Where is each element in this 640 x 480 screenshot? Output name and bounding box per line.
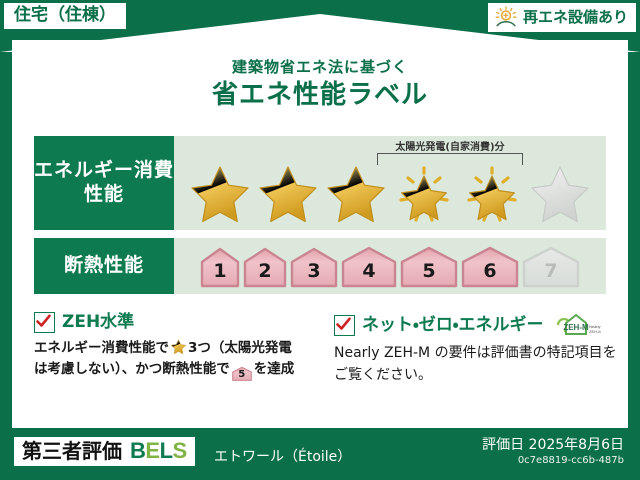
building-type-label: 住宅（住棟）	[14, 5, 116, 25]
insulation-level-badge: 4	[341, 244, 397, 288]
inline-star-icon	[170, 338, 187, 355]
label-id: 0c7e8819-cc6b-487b	[482, 454, 624, 468]
footer: 第三者評価 BELS エトワール（Étoile） 評価日 2025年8月6日 0…	[0, 428, 640, 480]
bels-letter-s: S	[173, 438, 187, 463]
star-empty	[527, 160, 593, 226]
star-solar	[459, 160, 525, 226]
inline-insulation-badge: 5	[232, 365, 252, 382]
title-subtitle: 建築物省エネ法に基づく	[12, 58, 628, 76]
zeh-body-part4: を達成	[254, 361, 295, 377]
zeh-body-part3: は考慮しない）、かつ断熱性能で	[34, 361, 230, 377]
insulation-level-scale: 1 2 3	[174, 238, 606, 294]
insulation-performance-label: 断熱性能	[34, 238, 174, 294]
inline-insulation-number: 5	[232, 365, 252, 384]
insulation-level-badge: 1	[200, 244, 240, 288]
insulation-level-badge: 5	[400, 244, 458, 288]
nzeb-criterion-title: ネット・ゼロ・エネルギー	[362, 317, 544, 334]
star-filled	[323, 160, 389, 226]
zeh-body-part1: エネルギー消費性能で	[34, 340, 169, 356]
third-party-eval-label: 第三者評価	[22, 441, 122, 461]
insulation-level-number: 2	[258, 260, 271, 288]
nzeb-criterion: ネット・ゼロ・エネルギー ZEH-M Nearly ZEH-M Nearly Z…	[334, 312, 620, 386]
star-solar	[391, 160, 457, 226]
insulation-level-number: 5	[422, 260, 435, 288]
insulation-level-badge: 3	[290, 244, 338, 288]
nzeb-criterion-body: Nearly ZEH-M の要件は評価書の特記項目をご覧ください。	[334, 343, 620, 386]
zeh-m-logo-icon: ZEH-M Nearly ZEH-M	[555, 312, 601, 338]
title-main: 省エネ性能ラベル	[12, 79, 628, 112]
checkbox-checked-icon	[334, 315, 355, 336]
sun-renewable-icon	[494, 6, 518, 28]
insulation-level-number: 6	[483, 260, 496, 288]
bels-logo: BELS	[130, 440, 187, 462]
insulation-level-number: 4	[362, 260, 375, 288]
insulation-levels-area: 1 2 3	[174, 238, 606, 294]
bels-letter-l: L	[160, 438, 173, 463]
bels-badge: 第三者評価 BELS	[14, 437, 195, 466]
criteria-section: ZEH水準 エネルギー消費性能で3つ（太陽光発電 は考慮しない）、かつ断熱性能で…	[34, 312, 620, 386]
zeh-criterion-title: ZEH水準	[62, 314, 134, 331]
title-block: 建築物省エネ法に基づく 省エネ性能ラベル	[12, 40, 628, 112]
insulation-level-badge: 2	[243, 244, 287, 288]
rating-rows: エネルギー消費性能 太陽光発電(自家消費)分	[34, 136, 606, 302]
renewable-badge: 再エネ設備あり	[488, 3, 636, 32]
insulation-level-badge: 6	[461, 244, 519, 288]
footer-meta: 評価日 2025年8月6日 0c7e8819-cc6b-487b	[482, 436, 624, 468]
building-type-badge: 住宅（住棟）	[4, 3, 126, 29]
insulation-performance-row: 断熱性能	[34, 238, 606, 294]
insulation-level-number: 3	[307, 260, 320, 288]
property-name: エトワール（Étoile）	[214, 446, 351, 466]
insulation-level-badge-inactive: 7	[522, 244, 580, 288]
svg-text:ZEH-M: ZEH-M	[589, 329, 601, 334]
solar-bracket-label: 太陽光発電(自家消費)分	[371, 138, 529, 153]
zeh-criterion-body: エネルギー消費性能で3つ（太陽光発電 は考慮しない）、かつ断熱性能で5を達成	[34, 338, 320, 382]
zeh-criterion-header: ZEH水準	[34, 312, 320, 333]
energy-performance-label: エネルギー消費性能	[34, 136, 174, 230]
star-filled	[187, 160, 253, 226]
bels-letter-e: E	[145, 438, 159, 463]
main-panel: 建築物省エネ法に基づく 省エネ性能ラベル エネルギー消費性能 太陽光発電(自家消…	[12, 40, 628, 428]
nzeb-criterion-header: ネット・ゼロ・エネルギー ZEH-M Nearly ZEH-M	[334, 312, 620, 338]
energy-label-root: 住宅（住棟） 再エネ設備あり 建築物省エネ	[0, 0, 640, 480]
insulation-level-number: 7	[544, 260, 557, 288]
energy-performance-stars-area: 太陽光発電(自家消費)分	[174, 136, 606, 230]
energy-performance-row: エネルギー消費性能 太陽光発電(自家消費)分	[34, 136, 606, 230]
insulation-level-number: 1	[213, 260, 226, 288]
star-rating	[174, 160, 606, 226]
svg-text:ZEH-M: ZEH-M	[563, 323, 589, 332]
evaluation-date: 評価日 2025年8月6日	[482, 436, 624, 454]
zeh-criterion: ZEH水準 エネルギー消費性能で3つ（太陽光発電 は考慮しない）、かつ断熱性能で…	[34, 312, 320, 386]
zeh-body-part2: 3つ（太陽光発電	[188, 340, 292, 356]
bels-letter-b: B	[130, 438, 145, 463]
star-filled	[255, 160, 321, 226]
checkbox-checked-icon	[34, 312, 55, 333]
renewable-label: 再エネ設備あり	[523, 10, 628, 25]
